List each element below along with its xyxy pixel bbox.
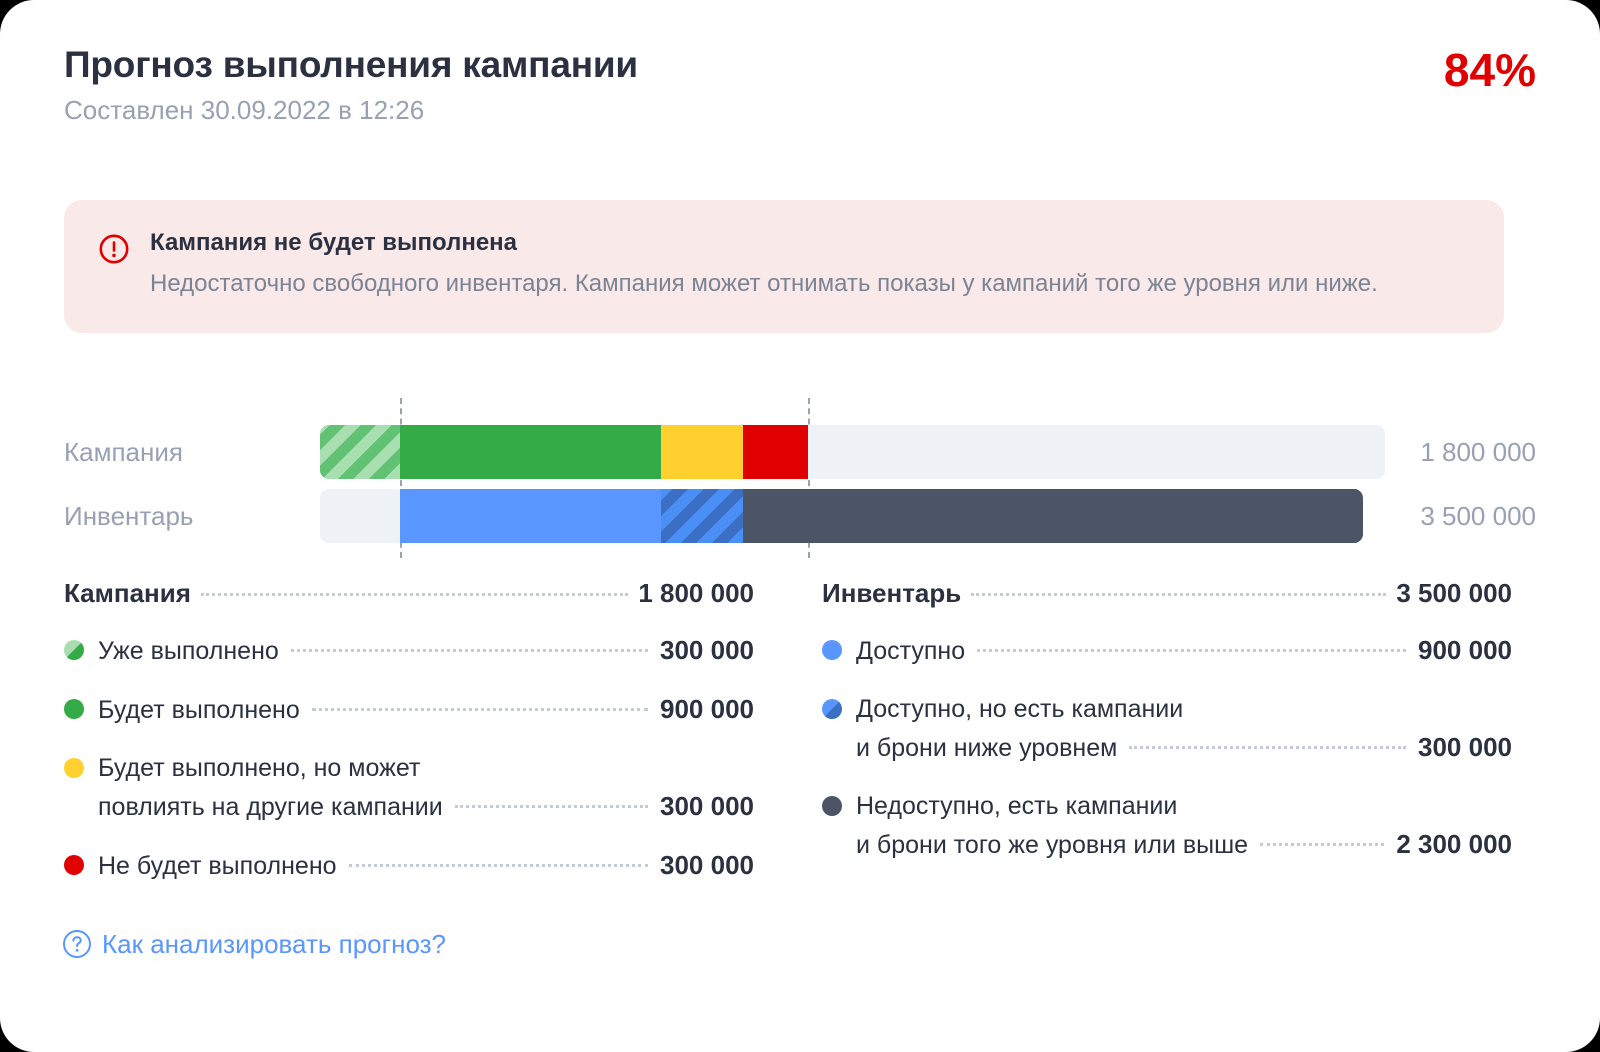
bar-segment-will-be-done	[400, 425, 661, 479]
page-subtitle: Составлен 30.09.2022 в 12:26	[64, 94, 638, 126]
legend-item-available-lower: Доступно, но есть кампании и брони ниже …	[822, 690, 1512, 767]
legend-item-body: Не будет выполнено 300 000	[98, 846, 754, 885]
legend-item-body: Будет выполнено, но может повлиять на др…	[98, 749, 754, 826]
legend-header-label: Инвентарь	[822, 578, 961, 609]
legend-item-value: 300 000	[1418, 728, 1512, 766]
legend-item-already-done: Уже выполнено 300 000	[64, 631, 754, 670]
legend-item-label: Доступно, но есть кампании	[856, 695, 1183, 723]
legend-header-value: 1 800 000	[638, 578, 754, 609]
bar-segment-may-affect	[661, 425, 743, 479]
split-green-dot-icon	[64, 640, 84, 660]
alert-text: Недостаточно свободного инвентаря. Кампа…	[150, 265, 1470, 303]
leader-dots	[1129, 746, 1406, 749]
legend-item-body: Будет выполнено 900 000	[98, 690, 754, 729]
title-block: Прогноз выполнения кампании Составлен 30…	[64, 42, 638, 126]
legend-item-label: Будет выполнено, но может	[98, 754, 420, 782]
legend-header-inventory: Инвентарь 3 500 000	[822, 578, 1512, 609]
bar-value-inventory: 3 500 000	[1404, 489, 1536, 543]
bar-row-campaign: Кампания 1 800 000	[64, 425, 1536, 479]
bar-segment-already-done	[320, 425, 400, 479]
leader-dots	[201, 593, 628, 596]
bar-segment-unavailable	[743, 489, 1363, 543]
split-blue-dot-icon	[822, 699, 842, 719]
legend-campaign: Кампания 1 800 000 Уже выполнено 300 000…	[64, 578, 754, 905]
bar-segment-inventory-offset	[320, 489, 400, 543]
legend-item-value: 300 000	[660, 631, 754, 669]
legend-item-will-not-be-done: Не будет выполнено 300 000	[64, 846, 754, 885]
forecast-percent: 84%	[1444, 44, 1536, 96]
legend-item-label: Будет выполнено	[98, 691, 300, 729]
forecast-card: Прогноз выполнения кампании Составлен 30…	[0, 0, 1600, 1052]
legend-item-label: Недоступно, есть кампании	[856, 792, 1177, 820]
bar-segment-available	[400, 489, 661, 543]
dark-slate-dot-icon	[822, 796, 842, 816]
legend-item-second-line: и брони того же уровня или выше 2 300 00…	[856, 825, 1512, 864]
yellow-dot-icon	[64, 758, 84, 778]
legend-inventory: Инвентарь 3 500 000 Доступно 900 000 Дос…	[822, 578, 1512, 884]
leader-dots	[977, 649, 1406, 652]
forecast-bar-chart: Кампания 1 800 000 Инвентарь 3 500 000	[64, 398, 1536, 563]
alert-banner: Кампания не будет выполнена Недостаточно…	[64, 200, 1504, 333]
legend-item-label: Уже выполнено	[98, 632, 279, 670]
legend-header-value: 3 500 000	[1396, 578, 1512, 609]
alert-title: Кампания не будет выполнена	[150, 228, 1470, 258]
bar-segment-will-not-be-done	[743, 425, 808, 479]
legend-item-value: 300 000	[660, 787, 754, 825]
leader-dots	[971, 593, 1386, 596]
legend-item-may-affect: Будет выполнено, но может повлиять на др…	[64, 749, 754, 826]
bar-label-campaign: Кампания	[64, 425, 304, 479]
legend-item-label: Доступно	[856, 632, 965, 670]
legend-item-label: Не будет выполнено	[98, 847, 337, 885]
bar-value-campaign: 1 800 000	[1404, 425, 1536, 479]
legend-item-second-line: повлиять на другие кампании 300 000	[98, 787, 754, 826]
legend-item-label-line2: и брони ниже уровнем	[856, 729, 1117, 767]
legend-item-available: Доступно 900 000	[822, 631, 1512, 670]
green-dot-icon	[64, 699, 84, 719]
legend-header-label: Кампания	[64, 578, 191, 609]
legend-item-body: Доступно, но есть кампании и брони ниже …	[856, 690, 1512, 767]
legend-item-label-line2: и брони того же уровня или выше	[856, 826, 1248, 864]
bar-track-campaign	[320, 425, 1385, 479]
bar-row-inventory: Инвентарь 3 500 000	[64, 489, 1536, 543]
legend-item-value: 2 300 000	[1396, 825, 1512, 863]
exclamation-circle-icon	[98, 233, 130, 265]
legend-item-body: Уже выполнено 300 000	[98, 631, 754, 670]
legend-item-value: 900 000	[660, 690, 754, 728]
blue-dot-icon	[822, 640, 842, 660]
bar-segment-available-lower	[661, 489, 743, 543]
card-header: Прогноз выполнения кампании Составлен 30…	[64, 42, 1536, 126]
legend-item-unavailable: Недоступно, есть кампании и брони того ж…	[822, 787, 1512, 864]
alert-body: Кампания не будет выполнена Недостаточно…	[150, 228, 1470, 303]
legend-item-label-line2: повлиять на другие кампании	[98, 788, 443, 826]
leader-dots	[291, 649, 648, 652]
legend-item-body: Доступно 900 000	[856, 631, 1512, 670]
legend-item-value: 300 000	[660, 846, 754, 884]
leader-dots	[455, 805, 648, 808]
legend-header-campaign: Кампания 1 800 000	[64, 578, 754, 609]
leader-dots	[1260, 843, 1384, 846]
bar-label-inventory: Инвентарь	[64, 489, 304, 543]
legend-item-will-be-done: Будет выполнено 900 000	[64, 690, 754, 729]
legend-item-body: Недоступно, есть кампании и брони того ж…	[856, 787, 1512, 864]
bar-track-inventory	[320, 489, 1363, 543]
legend-item-second-line: и брони ниже уровнем 300 000	[856, 728, 1512, 767]
page-title: Прогноз выполнения кампании	[64, 42, 638, 88]
leader-dots	[312, 708, 648, 711]
help-link-label: Как анализировать прогноз?	[102, 928, 446, 960]
question-circle-icon	[62, 929, 92, 959]
red-dot-icon	[64, 855, 84, 875]
legend-item-value: 900 000	[1418, 631, 1512, 669]
leader-dots	[349, 864, 648, 867]
how-to-analyze-forecast-link[interactable]: Как анализировать прогноз?	[62, 928, 446, 960]
